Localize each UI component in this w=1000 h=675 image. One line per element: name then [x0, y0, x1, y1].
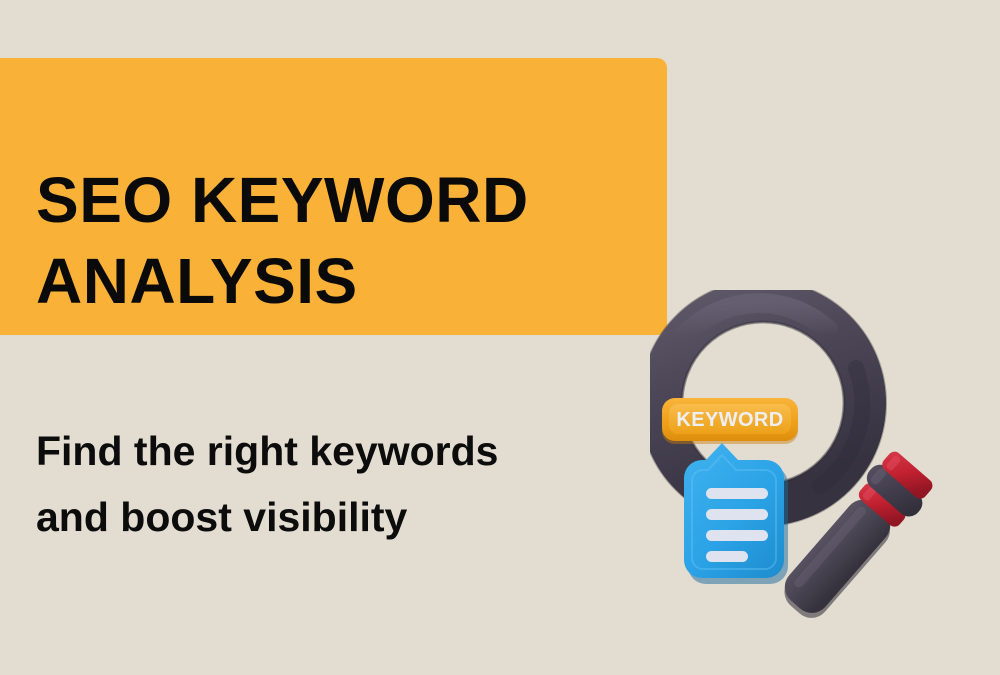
subtitle: Find the right keywords and boost visibi… — [36, 418, 536, 550]
page-title: SEO KEYWORD ANALYSIS — [36, 160, 636, 322]
card-line-4 — [706, 551, 748, 562]
magnifying-glass-illustration: KEYWORD — [650, 290, 1000, 640]
document-card — [684, 443, 788, 584]
title-banner: SEO KEYWORD ANALYSIS — [0, 58, 667, 335]
poster-canvas: SEO KEYWORD ANALYSIS Find the right keyw… — [0, 0, 1000, 675]
card-line-1 — [706, 488, 768, 499]
card-line-2 — [706, 509, 768, 520]
card-line-3 — [706, 530, 768, 541]
keyword-badge-label: KEYWORD — [676, 409, 783, 431]
keyword-badge: KEYWORD — [662, 398, 798, 444]
